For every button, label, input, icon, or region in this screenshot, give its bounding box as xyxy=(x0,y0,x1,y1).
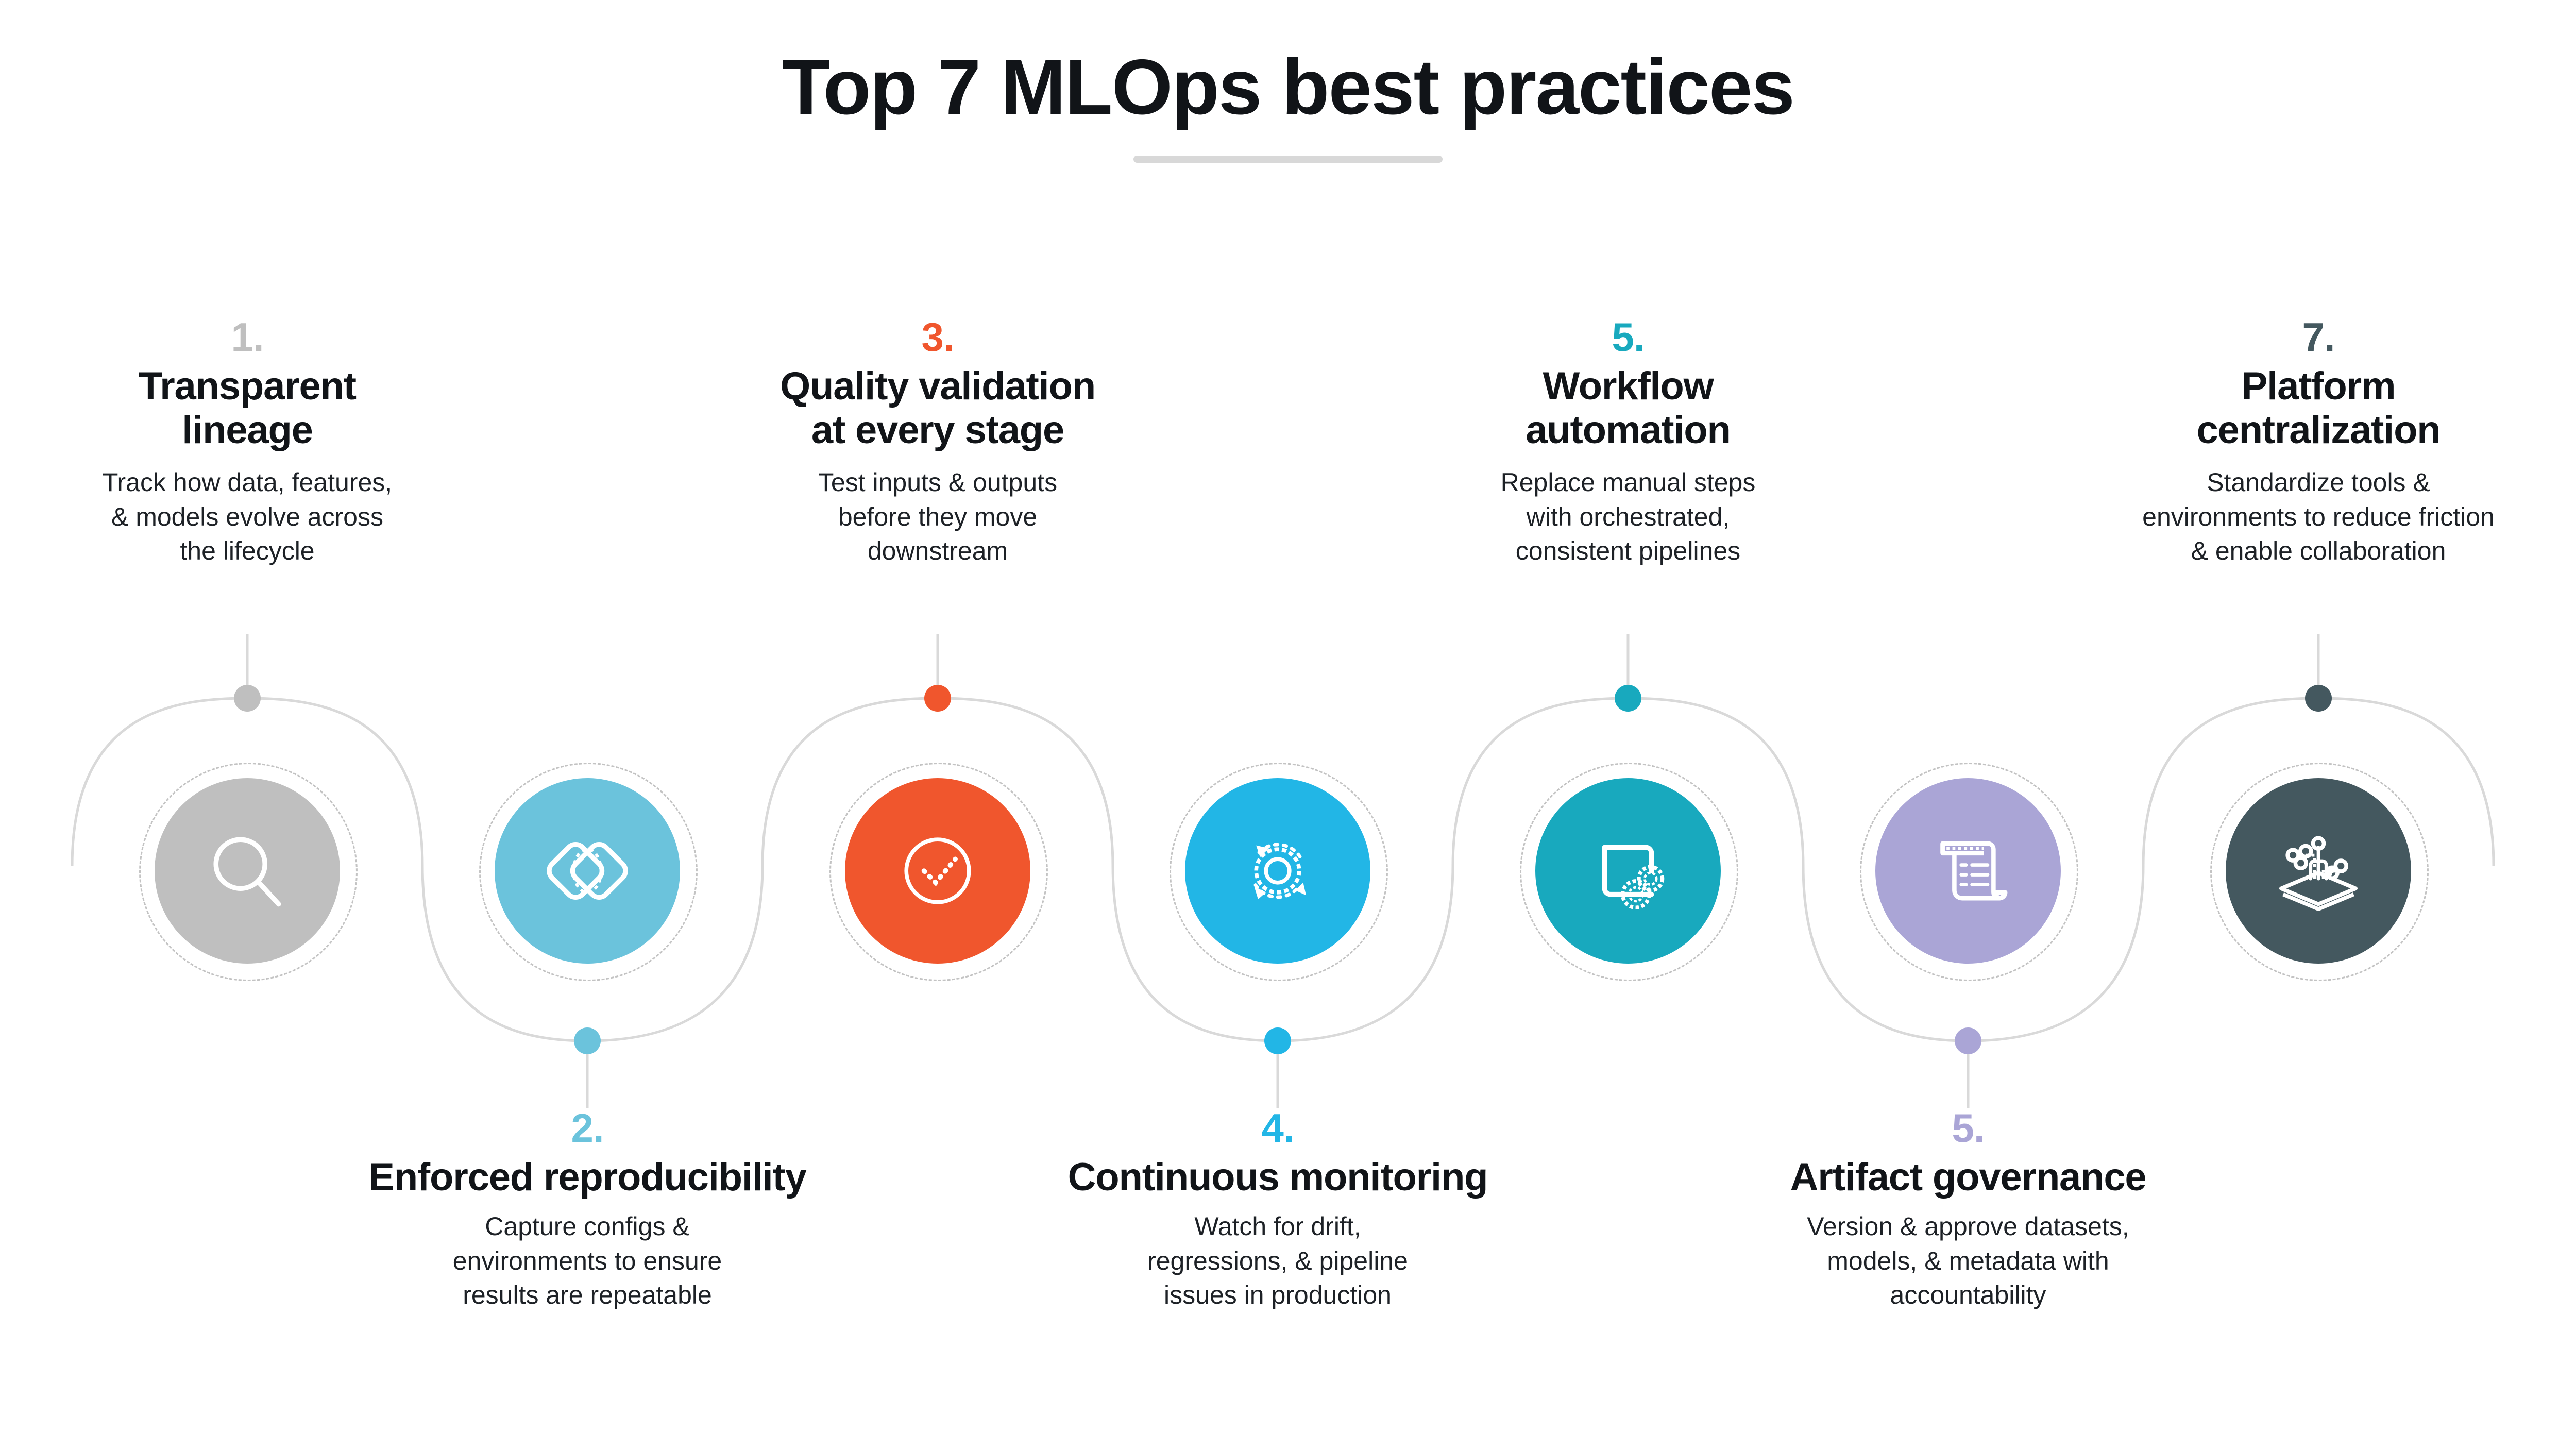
node-circle-7[interactable] xyxy=(2226,778,2411,964)
item-title: Workflow automation xyxy=(1412,364,1844,452)
infographic-canvas: Top 7 MLOps best practices xyxy=(0,0,2576,1449)
scroll-document-icon xyxy=(1919,822,2017,920)
item-number: 1. xyxy=(41,317,453,357)
item-number: 4. xyxy=(969,1108,1587,1148)
item-block-2: 2. Enforced reproducibility Capture conf… xyxy=(258,1108,917,1312)
item-block-3: 3. Quality validation at every stage Tes… xyxy=(721,317,1154,568)
item-block-4: 4. Continuous monitoring Watch for drift… xyxy=(969,1108,1587,1312)
item-description: Watch for drift, regressions, & pipeline… xyxy=(969,1209,1587,1312)
overlapping-diamonds-icon xyxy=(538,822,636,920)
item-title: Quality validation at every stage xyxy=(721,364,1154,452)
item-block-7: 7. Platform centralization Standardize t… xyxy=(2076,317,2561,568)
item-description: Replace manual steps with orchestrated, … xyxy=(1412,465,1844,568)
item-number: 5. xyxy=(1669,1108,2267,1148)
item-block-1: 1. Transparent lineage Track how data, f… xyxy=(41,317,453,568)
item-block-6: 5. Artifact governance Version & approve… xyxy=(1669,1108,2267,1312)
item-number: 2. xyxy=(258,1108,917,1148)
item-number: 5. xyxy=(1412,317,1844,357)
item-description: Version & approve datasets, models, & me… xyxy=(1669,1209,2267,1312)
item-description: Test inputs & outputs before they move d… xyxy=(721,465,1154,568)
item-description: Capture configs & environments to ensure… xyxy=(258,1209,917,1312)
window-gears-icon xyxy=(1579,822,1677,920)
item-title: Platform centralization xyxy=(2076,364,2561,452)
node-circle-2[interactable] xyxy=(495,778,680,964)
item-title: Enforced reproducibility xyxy=(258,1155,917,1199)
check-circle-icon xyxy=(889,822,987,920)
item-title: Continuous monitoring xyxy=(969,1155,1587,1199)
gear-cycle-icon xyxy=(1229,822,1327,920)
layered-network-icon xyxy=(2269,822,2367,920)
item-number: 7. xyxy=(2076,317,2561,357)
node-circle-6[interactable] xyxy=(1875,778,2061,964)
item-title: Transparent lineage xyxy=(41,364,453,452)
item-description: Track how data, features, & models evolv… xyxy=(41,465,453,568)
item-block-5: 5. Workflow automation Replace manual st… xyxy=(1412,317,1844,568)
item-title: Artifact governance xyxy=(1669,1155,2267,1199)
magnifier-icon xyxy=(198,822,296,920)
node-circle-5[interactable] xyxy=(1535,778,1721,964)
item-description: Standardize tools & environments to redu… xyxy=(2076,465,2561,568)
node-circle-1[interactable] xyxy=(155,778,340,964)
node-circle-3[interactable] xyxy=(845,778,1030,964)
item-number: 3. xyxy=(721,317,1154,357)
node-circle-4[interactable] xyxy=(1185,778,1370,964)
